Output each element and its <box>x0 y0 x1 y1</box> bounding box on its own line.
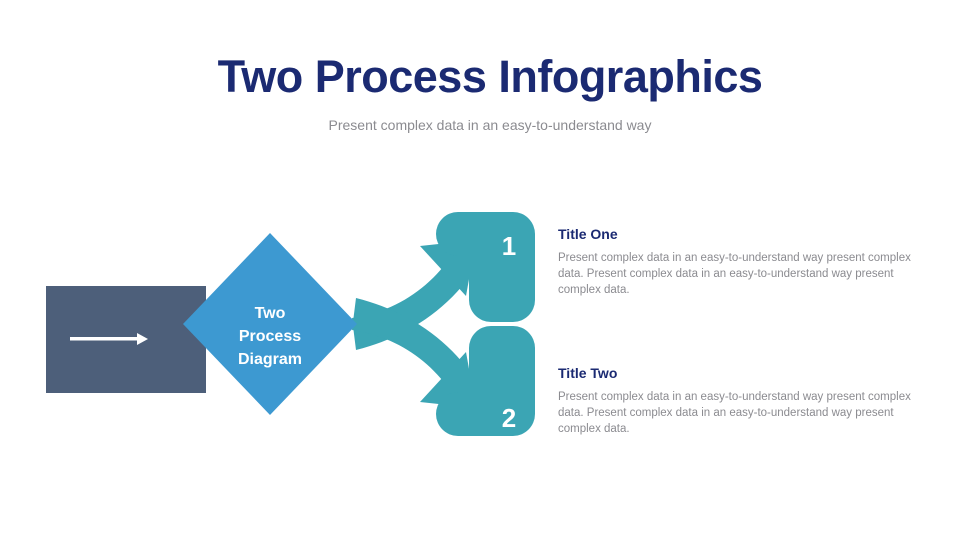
center-diamond <box>183 233 357 415</box>
slide-canvas: Two Process Infographics Present complex… <box>0 0 980 551</box>
content-block-2-body: Present complex data in an easy-to-under… <box>558 389 938 437</box>
content-block-1: Title One Present complex data in an eas… <box>558 226 938 298</box>
content-block-1-title: Title One <box>558 226 938 243</box>
content-block-1-body: Present complex data in an easy-to-under… <box>558 250 938 298</box>
content-block-2: Title Two Present complex data in an eas… <box>558 365 938 437</box>
content-block-2-title: Title Two <box>558 365 938 382</box>
